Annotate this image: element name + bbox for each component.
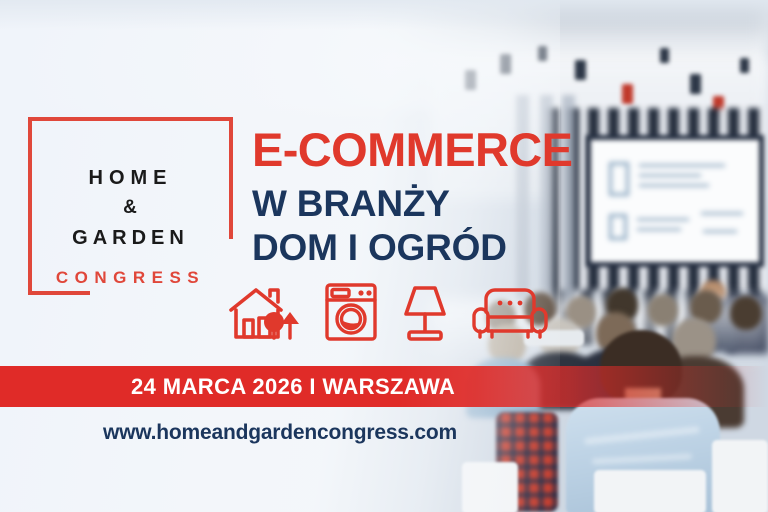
spotlight: [740, 58, 749, 73]
projection-screen: [586, 135, 764, 267]
logo-line-garden: GARDEN: [28, 227, 233, 250]
slide-line: [637, 218, 689, 221]
audience-head: [648, 294, 678, 326]
audience-head: [730, 296, 762, 330]
spotlight: [575, 60, 586, 80]
website-url[interactable]: www.homeandgardencongress.com: [0, 421, 560, 445]
logo-line-home: HOME: [28, 167, 233, 190]
sofa-icon: [472, 284, 548, 342]
logo-line-congress: CONGRESS: [28, 268, 233, 288]
category-icon-row: [228, 282, 548, 342]
headline: E-COMMERCE W BRANŻY DOM I OGRÓD: [252, 126, 572, 269]
logo-frame-top: [28, 117, 233, 121]
date-location-text: 24 MARCA 2026 I WARSZAWA: [131, 374, 455, 400]
logo-line-ampersand: &: [28, 197, 233, 219]
slide-line: [637, 228, 681, 231]
slide-shape: [609, 162, 629, 196]
shirt-fold: [592, 453, 692, 464]
headline-line-2: W BRANŻY: [252, 182, 572, 226]
shirt-fold: [584, 426, 700, 445]
spotlight: [660, 48, 669, 63]
chair: [594, 470, 706, 512]
headline-line-3: DOM I OGRÓD: [252, 226, 572, 270]
slide-line: [639, 164, 725, 167]
logo[interactable]: HOME & GARDEN CONGRESS: [28, 117, 233, 295]
slide-line: [639, 174, 701, 177]
house-garden-icon: [228, 282, 302, 342]
logo-frame-bottom: [28, 291, 90, 295]
slide-line: [701, 212, 743, 215]
spotlight: [622, 84, 633, 104]
top-gradient: [0, 0, 768, 30]
slide-line: [703, 230, 737, 233]
promo-banner: HOME & GARDEN CONGRESS E-COMMERCE W BRAN…: [0, 0, 768, 512]
washing-machine-icon: [324, 282, 378, 342]
slide-line: [639, 184, 709, 187]
spotlight: [690, 74, 701, 94]
slide-shape: [609, 214, 627, 240]
date-location-banner: 24 MARCA 2026 I WARSZAWA: [0, 366, 768, 407]
chair: [712, 440, 768, 512]
table-lamp-icon: [400, 282, 450, 342]
headline-line-1: E-COMMERCE: [252, 126, 572, 173]
